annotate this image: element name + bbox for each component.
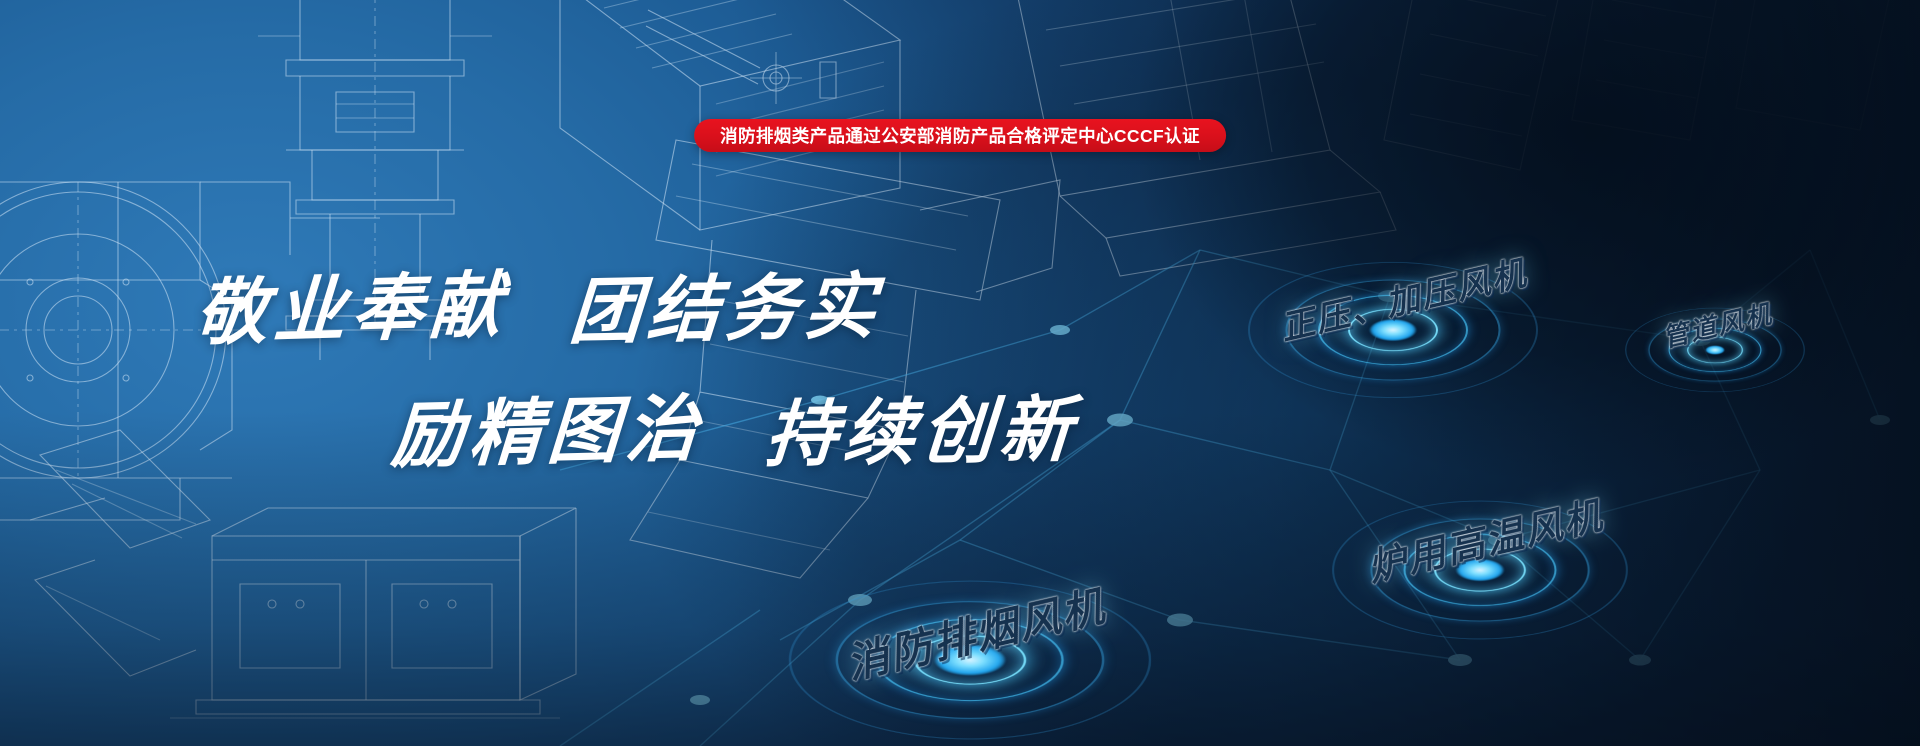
hotspot-zhengya-jiaya-fan[interactable]: 正压、加压风机	[1228, 240, 1558, 420]
slogan-block: 敬业奉献 团结务实 励精图治 持续创新	[196, 250, 1096, 478]
slogan-phrase-jingye: 敬业奉献	[193, 246, 511, 360]
slogan-phrase-lijing: 励精图治	[389, 369, 708, 482]
banner-stage: 消防排烟类产品通过公安部消防产品合格评定中心CCCF认证 敬业奉献 团结务实 励…	[0, 0, 1920, 746]
slogan-line-2: 励精图治 持续创新	[392, 373, 1096, 478]
hotspot-luyong-gaowen-fan[interactable]: 炉用高温风机	[1300, 470, 1660, 670]
hotspot-guandao-fan[interactable]: 管道风机	[1590, 280, 1840, 420]
slogan-line-1: 敬业奉献 团结务实	[196, 250, 1096, 355]
hotspot-xiaofang-paiyan-fan[interactable]: 消防排烟风机	[760, 545, 1180, 746]
slogan-phrase-chixu: 持续创新	[762, 370, 1081, 481]
certification-banner: 消防排烟类产品通过公安部消防产品合格评定中心CCCF认证	[694, 119, 1226, 152]
slogan-phrase-tuanjie: 团结务实	[566, 247, 885, 358]
